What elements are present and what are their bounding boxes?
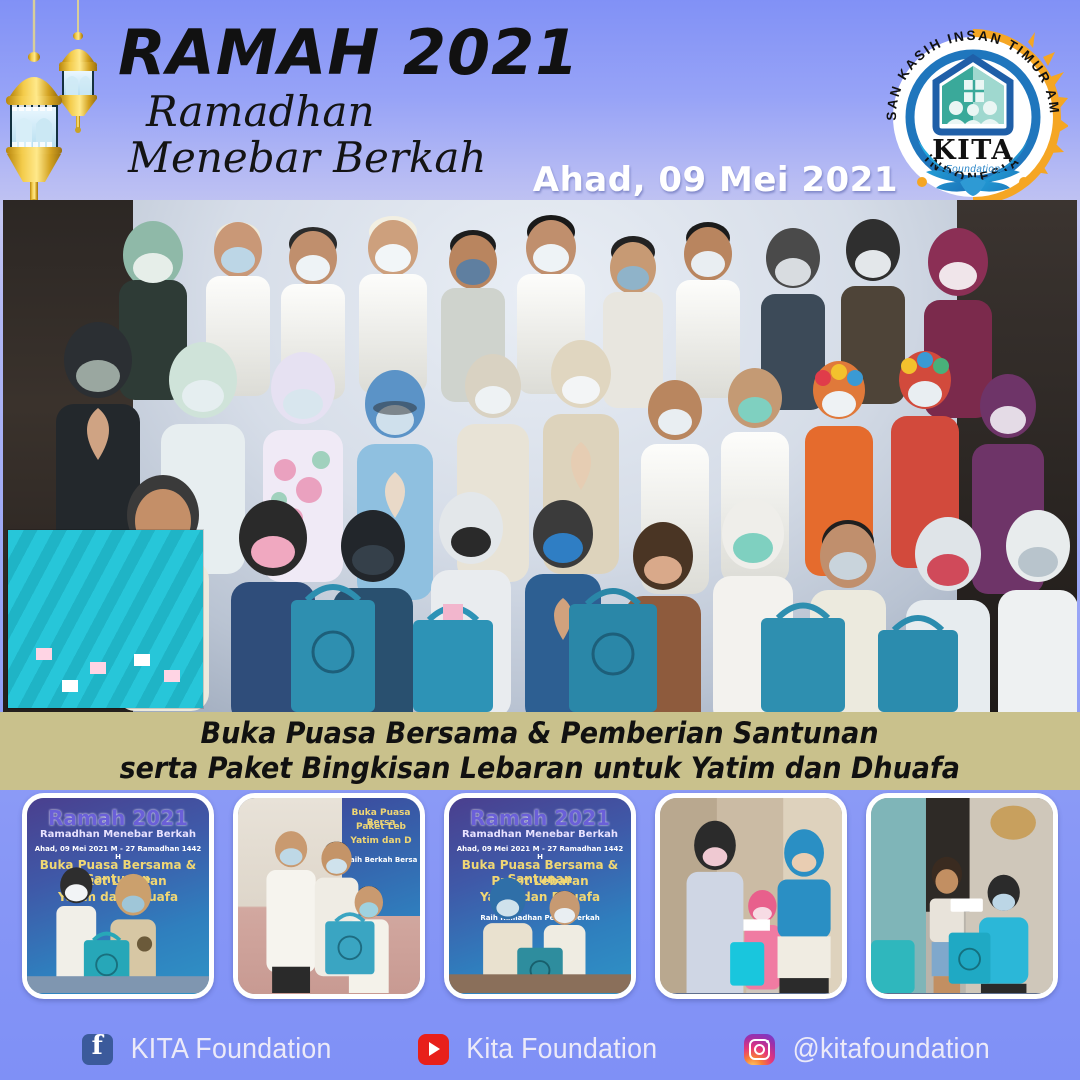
social-youtube[interactable]: Kita Foundation: [418, 1033, 666, 1066]
organization-logo: YAYASAN KASIH INSAN TIMUR AMANAH INDONES…: [878, 22, 1068, 212]
lanterns-group: [0, 0, 120, 210]
star-right-icon: [1019, 177, 1029, 187]
poster-subtitle-line1: Ramadhan: [146, 90, 638, 134]
social-footer: KITA Foundation Kita Foundation @kitafou…: [0, 1018, 1080, 1080]
logo-brand-name: KITA: [932, 135, 1014, 166]
thumb1-scene: [27, 798, 209, 993]
instagram-lens: [754, 1044, 765, 1055]
caption-line-1: Buka Puasa Bersama & Pemberian Santunan: [201, 716, 879, 751]
caption-line-2: serta Paket Bingkisan Lebaran untuk Yati…: [120, 751, 960, 786]
lantern-large-icon: [6, 0, 62, 209]
lantern-small-icon: [59, 0, 97, 133]
thumbnail-1[interactable]: Ramah 2021 Ramadhan Menebar Berkah Ahad,…: [22, 793, 214, 999]
caption-band: Buka Puasa Bersama & Pemberian Santunan …: [0, 712, 1080, 790]
youtube-label: Kita Foundation: [466, 1033, 657, 1066]
instagram-icon[interactable]: [744, 1034, 775, 1065]
youtube-icon[interactable]: [418, 1034, 449, 1065]
thumb3-scene: [449, 798, 631, 993]
logo-brand-sub: Foundation: [945, 164, 1000, 175]
title-block: RAMAH 2021 Ramadhan Menebar Berkah: [118, 22, 638, 180]
thumbnail-5[interactable]: [866, 793, 1058, 999]
thumb2-scene: [238, 798, 420, 993]
thumbnail-2[interactable]: Buka Puasa Bersa Paket Leb Yatim dan D R…: [233, 793, 425, 999]
facebook-label: KITA Foundation: [130, 1033, 331, 1066]
main-event-photo: [3, 200, 1077, 712]
social-facebook[interactable]: KITA Foundation: [82, 1033, 340, 1066]
thumb4-scene: [660, 798, 842, 993]
star-left-icon: [917, 177, 927, 187]
poster-title: RAMAH 2021: [118, 22, 638, 84]
poster-root: RAMAH 2021 Ramadhan Menebar Berkah Ahad,…: [0, 0, 1080, 1080]
instagram-dot: [766, 1040, 769, 1043]
facebook-icon[interactable]: [82, 1034, 113, 1065]
inset-gift-bags-photo: [8, 530, 203, 708]
instagram-label: @kitafoundation: [792, 1033, 989, 1066]
social-instagram[interactable]: @kitafoundation: [744, 1033, 999, 1066]
thumb5-scene: [871, 798, 1053, 993]
event-date: Ahad, 09 Mei 2021: [533, 160, 898, 200]
thumbnail-4[interactable]: [655, 793, 847, 999]
thumbnail-row: Ramah 2021 Ramadhan Menebar Berkah Ahad,…: [0, 793, 1080, 1011]
thumbnail-3[interactable]: Ramah 2021 Ramadhan Menebar Berkah Ahad,…: [444, 793, 636, 999]
